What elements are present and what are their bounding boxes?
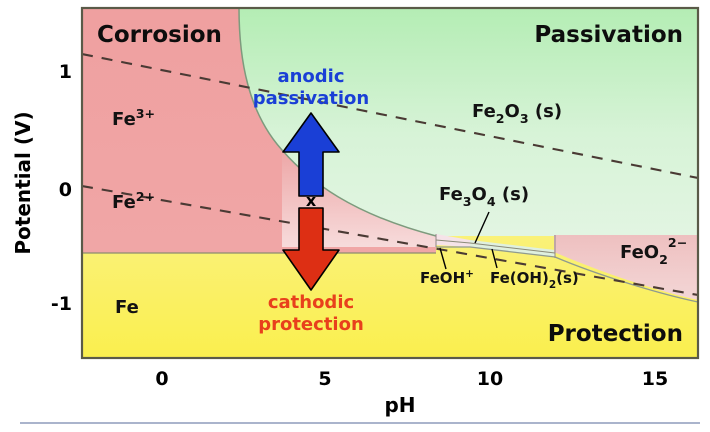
y-tick-label-minus1: -1: [51, 293, 72, 315]
annotation-cathodic-line1: cathodic: [268, 292, 354, 313]
species-fe3o4-sub2: 4: [487, 194, 496, 209]
species-fe2o3-sub2: 3: [520, 111, 529, 126]
species-fe2o3-sub1: 2: [496, 111, 505, 126]
x-axis-title: pH: [384, 393, 415, 417]
species-fe3plus-sup: 3+: [136, 106, 155, 121]
species-feoh-sup: +: [465, 268, 474, 280]
plot-regions: [82, 8, 698, 358]
species-fe2o3-tail: (s): [529, 101, 562, 122]
annotation-cathodic-line2: protection: [258, 314, 364, 335]
state-marker-x: x: [306, 191, 317, 210]
species-feoh2-base: Fe(OH): [490, 269, 549, 287]
region-title-passivation: Passivation: [534, 22, 683, 48]
y-tick-label-0: 0: [59, 179, 72, 201]
species-fe3o4-mid: O: [472, 184, 487, 205]
species-feo2-sub: 2: [659, 252, 668, 267]
region-title-protection: Protection: [548, 321, 683, 347]
species-feoh-base: FeOH: [420, 269, 465, 287]
species-fe3o4-sub1: 3: [463, 194, 472, 209]
y-axis: Potential (V) 1 0 -1: [11, 61, 72, 315]
y-tick-label-1: 1: [59, 61, 72, 83]
annotation-anodic-line2: passivation: [253, 88, 369, 109]
y-axis-title: Potential (V): [11, 111, 35, 254]
species-feoh2-tail: (s): [556, 269, 579, 287]
x-axis: 0 5 10 15 pH: [155, 368, 668, 417]
x-tick-label-0: 0: [155, 368, 168, 390]
x-tick-label-10: 10: [477, 368, 503, 390]
region-title-corrosion: Corrosion: [97, 22, 222, 48]
x-tick-label-15: 15: [642, 368, 668, 390]
pourbaix-diagram-svg: Potential (V) 1 0 -1 0 5 10 15 pH Corros…: [0, 0, 710, 432]
annotation-anodic-line1: anodic: [277, 66, 344, 87]
pourbaix-figure: Potential (V) 1 0 -1 0 5 10 15 pH Corros…: [0, 0, 710, 432]
species-fe2o3-base: Fe: [472, 101, 496, 122]
species-fe2o3-mid: O: [505, 101, 520, 122]
species-fe3o4-tail: (s): [496, 184, 529, 205]
species-fe3o4-base: Fe: [439, 184, 463, 205]
species-feo2-sup: 2−: [668, 235, 687, 250]
species-feoh2-sub: 2: [549, 279, 556, 291]
species-fe2plus-base: Fe: [112, 192, 136, 213]
species-fe3plus-base: Fe: [112, 109, 136, 130]
x-tick-label-5: 5: [318, 368, 331, 390]
species-feo2-base: FeO: [620, 242, 659, 263]
species-label-fe: Fe: [115, 297, 139, 318]
species-fe2plus-sup: 2+: [136, 189, 155, 204]
